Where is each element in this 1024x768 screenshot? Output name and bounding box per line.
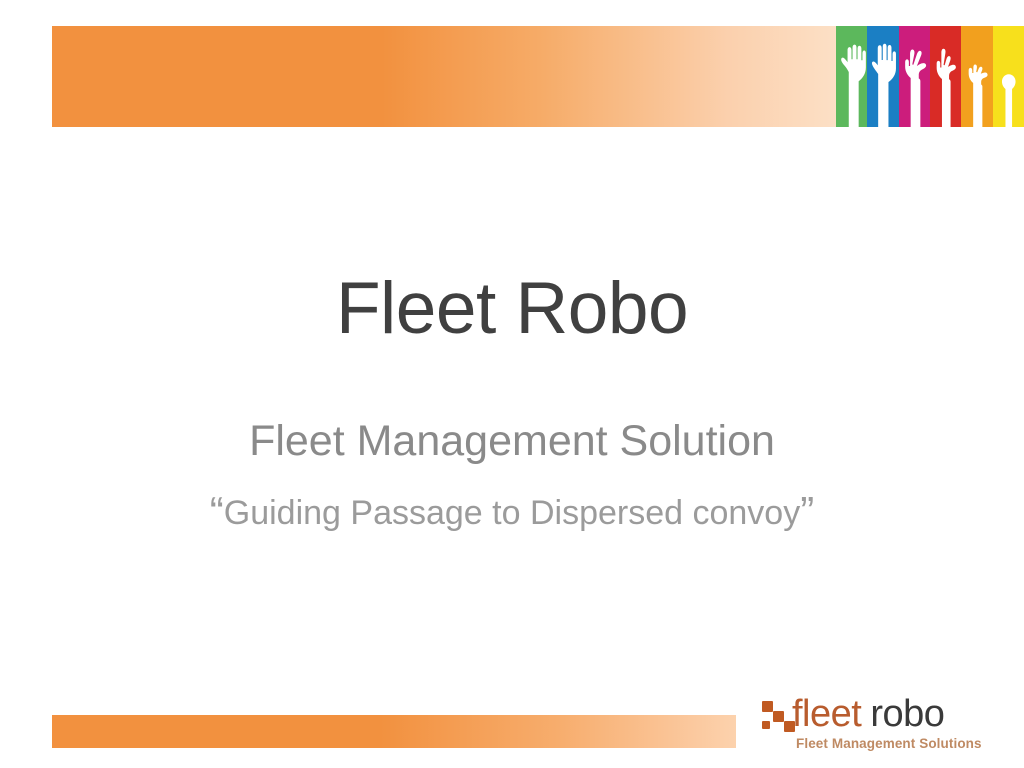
raised-hand-icon	[867, 26, 898, 127]
raised-hand-icon	[899, 26, 930, 127]
green-band	[836, 26, 867, 127]
header-orange-band	[52, 26, 838, 127]
close-quote-glyph: ”	[800, 488, 814, 535]
logo-word-fleet: fleet	[792, 693, 861, 735]
footer-orange-band	[52, 715, 736, 748]
logo-wordmark-row: fleetrobo	[762, 697, 992, 735]
orange-band	[961, 26, 992, 127]
brand-logo: fleetrobo Fleet Management Solutions	[762, 697, 992, 755]
blue-band	[867, 26, 898, 127]
subtitle: Fleet Management Solution	[0, 418, 1024, 465]
tagline-text: Guiding Passage to Dispersed convoy	[224, 494, 800, 532]
logo-wordmark: fleetrobo	[792, 695, 944, 733]
slide-canvas: Fleet Robo Fleet Management Solution “Gu…	[0, 0, 1024, 768]
open-quote-glyph: “	[210, 488, 224, 535]
red-band	[930, 26, 961, 127]
page-title: Fleet Robo	[0, 271, 1024, 348]
logo-word-robo: robo	[870, 693, 944, 735]
magenta-band	[899, 26, 930, 127]
logo-squares-icon	[762, 701, 796, 733]
raised-hands-color-strip	[836, 26, 1024, 127]
logo-tagline: Fleet Management Solutions	[796, 737, 982, 751]
yellow-band	[993, 26, 1024, 127]
raised-hand-icon	[836, 26, 867, 127]
raised-hand-icon	[961, 26, 992, 127]
tagline: “Guiding Passage to Dispersed convoy”	[0, 489, 1024, 535]
raised-hand-icon	[993, 26, 1024, 127]
raised-hand-icon	[930, 26, 961, 127]
